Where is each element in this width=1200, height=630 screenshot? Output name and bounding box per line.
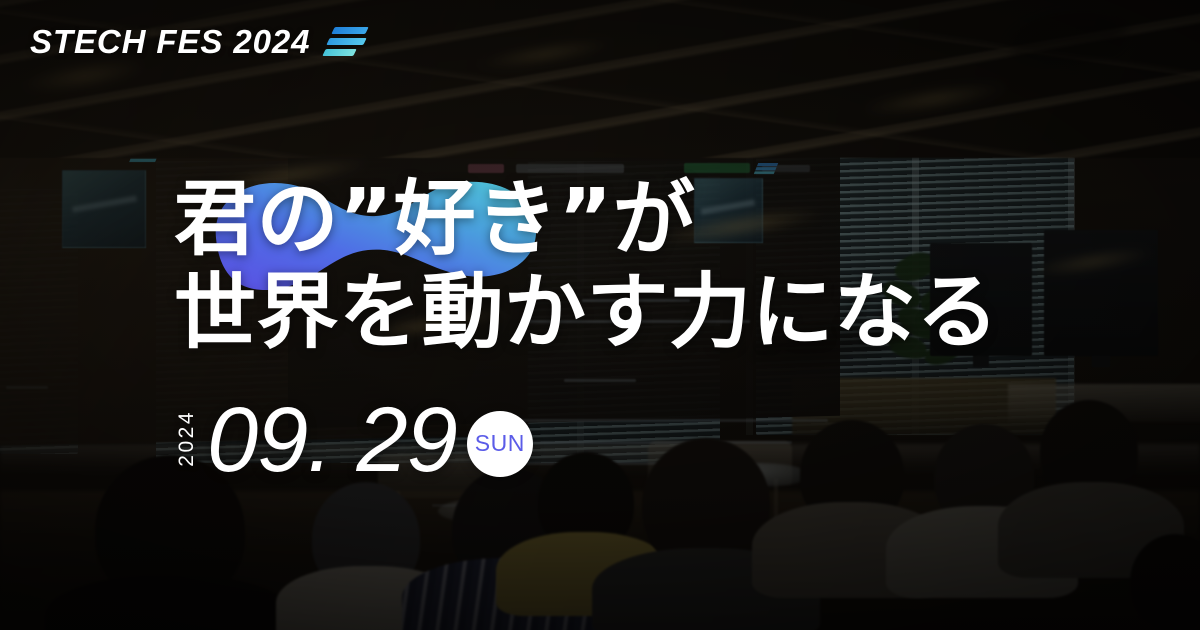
poster-content: STECH FES 2024 (0, 0, 1200, 630)
event-year: 2024 (176, 410, 197, 467)
event-key-visual-poster: STECH FES 2024 (0, 0, 1200, 630)
headline-line-1-text: 君の”好き”が (174, 172, 695, 267)
day-of-week-label: SUN (475, 432, 525, 455)
event-date: 2024 09. 29 SUN (176, 402, 533, 479)
headline-line-1: 君の”好き”が (174, 176, 999, 265)
brand-name: STECH FES 2024 (30, 25, 310, 58)
event-month-day: 09. 29 (207, 402, 457, 479)
brand-lockup: STECH FES 2024 (30, 22, 368, 60)
stech-three-bars-logomark-icon (324, 24, 368, 60)
day-of-week-badge: SUN (467, 411, 533, 477)
headline-line-2: 世界を動かす力になる (174, 269, 999, 358)
headline-line-2-text: 世界を動かす力になる (174, 265, 999, 360)
headline: 君の”好き”が 世界を動かす力になる (174, 176, 999, 357)
